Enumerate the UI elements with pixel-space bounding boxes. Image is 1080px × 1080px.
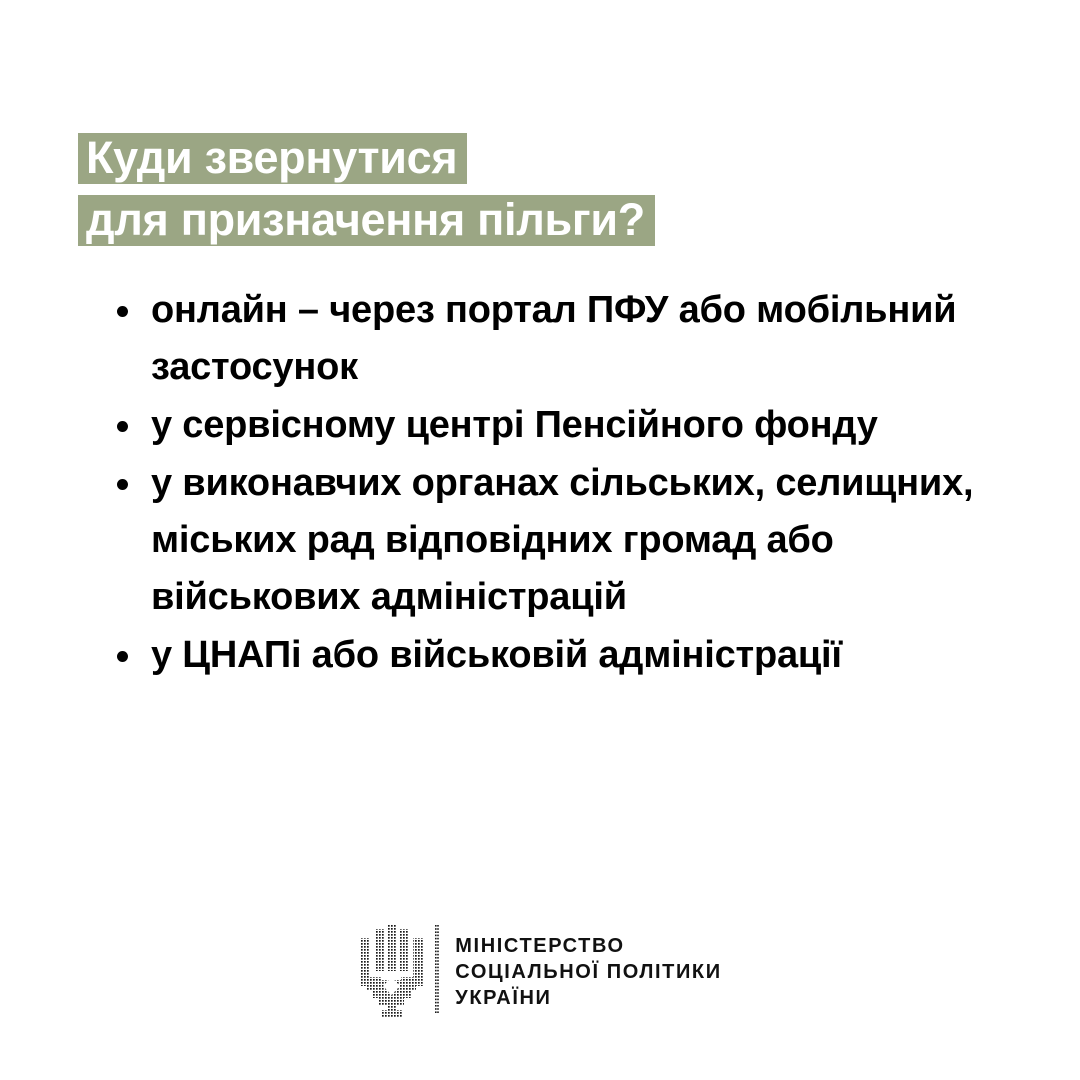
bullet-dot-icon [117, 651, 128, 662]
bullet-dot-icon [117, 306, 128, 317]
list-item: онлайн – через портал ПФУ або мобільний … [104, 282, 1034, 396]
list-item-label: у ЦНАПі або військовій адміністрації [151, 627, 1034, 684]
list-item-label: онлайн – через портал ПФУ або мобільний … [151, 282, 1034, 396]
list-item: у сервісному центрі Пенсійного фонду [104, 397, 1034, 454]
poster-canvas: Куди звернутися для призначення пільги? … [0, 0, 1080, 1080]
ministry-name-line-2: Соціальної політики [455, 959, 721, 985]
bullet-dot-icon [117, 479, 128, 490]
page-title: Куди звернутися для призначення пільги? [78, 133, 998, 246]
list-item-label: у сервісному центрі Пенсійного фонду [151, 397, 1034, 454]
list-item: у виконавчих органах сільських, селищних… [104, 455, 1034, 626]
dotted-divider [435, 925, 439, 1015]
bullet-dot-icon [117, 421, 128, 432]
ukrainian-trident-emblem [358, 925, 424, 1019]
list-item-label: у виконавчих органах сільських, селищних… [151, 455, 1034, 626]
ministry-name: Міністерство Соціальної політики України [455, 925, 721, 1011]
title-line-2: для призначення пільги? [78, 195, 655, 246]
info-bullet-list: онлайн – через портал ПФУ або мобільний … [104, 282, 1034, 685]
ministry-name-line-1: Міністерство [455, 933, 721, 959]
ministry-logo: Міністерство Соціальної політики України [0, 925, 1080, 1019]
title-line-1: Куди звернутися [78, 133, 467, 184]
list-item: у ЦНАПі або військовій адміністрації [104, 627, 1034, 684]
ministry-name-line-3: України [455, 985, 721, 1011]
